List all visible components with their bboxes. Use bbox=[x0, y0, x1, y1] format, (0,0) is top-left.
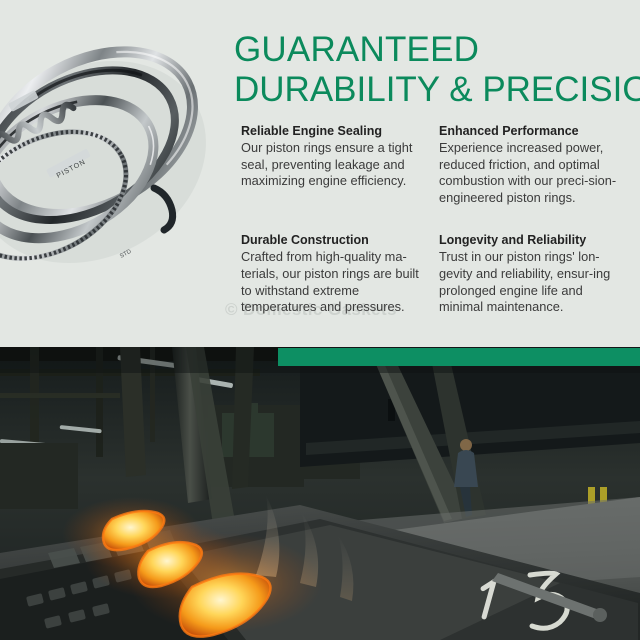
feature-card-longevity-and-reliability: Longevity and Reliability Trust in our p… bbox=[439, 232, 619, 315]
feature-card-durable-construction: Durable Construction Crafted from high-q… bbox=[241, 232, 421, 315]
feature-body: Crafted from high-quality ma-terials, ou… bbox=[241, 249, 421, 315]
top-content-section: PISTON STD GUARANTEED DURABILITY & PRECI… bbox=[0, 0, 640, 347]
feature-body: Experience increased power, reduced fric… bbox=[439, 140, 619, 206]
feature-body: Our piston rings ensure a tight seal, pr… bbox=[241, 140, 421, 190]
piston-rings-photo: PISTON STD bbox=[0, 0, 236, 322]
feature-title: Enhanced Performance bbox=[439, 123, 619, 139]
headline-line-1: GUARANTEED bbox=[234, 30, 634, 70]
feature-body: Trust in our piston rings' lon-gevity an… bbox=[439, 249, 619, 315]
feature-grid: Reliable Engine Sealing Our piston rings… bbox=[241, 123, 631, 316]
feature-title: Reliable Engine Sealing bbox=[241, 123, 421, 139]
feature-card-reliable-engine-sealing: Reliable Engine Sealing Our piston rings… bbox=[241, 123, 421, 206]
forge-floor-photo bbox=[0, 347, 640, 640]
product-feature-poster: PISTON STD GUARANTEED DURABILITY & PRECI… bbox=[0, 0, 640, 640]
feature-title: Longevity and Reliability bbox=[439, 232, 619, 248]
green-accent-bar bbox=[278, 348, 640, 366]
headline-line-2: DURABILITY & PRECISION bbox=[234, 70, 634, 110]
feature-title: Durable Construction bbox=[241, 232, 421, 248]
page-title: GUARANTEED DURABILITY & PRECISION bbox=[234, 30, 634, 110]
feature-card-enhanced-performance: Enhanced Performance Experience increase… bbox=[439, 123, 619, 206]
